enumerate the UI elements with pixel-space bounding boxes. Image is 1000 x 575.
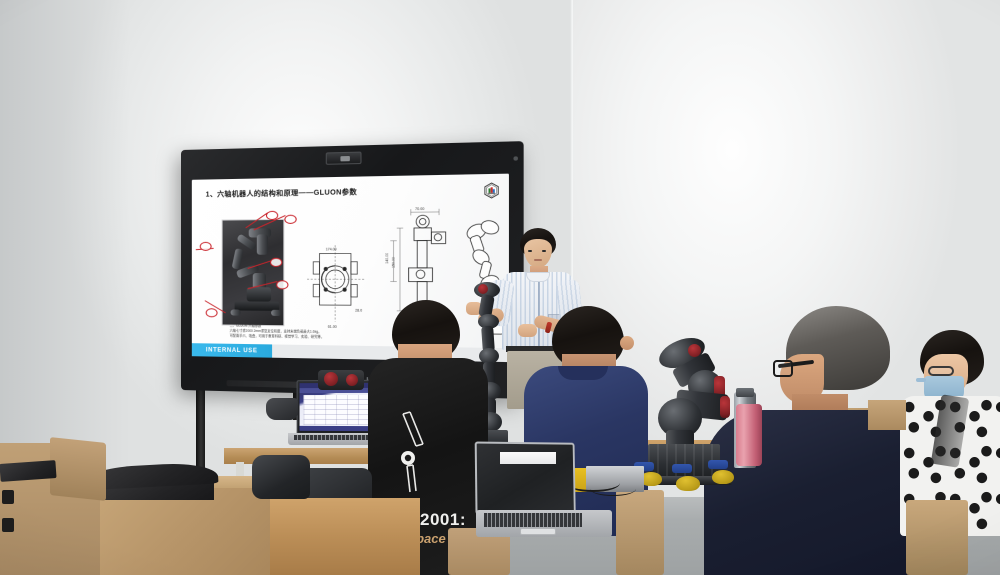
internal-use-badge: INTERNAL USE xyxy=(192,343,272,358)
svg-text:174.00: 174.00 xyxy=(326,247,337,251)
pneumatic-fitting xyxy=(708,460,728,469)
chair-back-far-left[interactable] xyxy=(50,437,106,501)
robot-joint-accent xyxy=(478,284,488,294)
svg-text:28.0: 28.0 xyxy=(355,308,362,312)
suction-foot xyxy=(676,476,700,491)
svg-text:150.00: 150.00 xyxy=(391,257,395,268)
slide-title: 1、六轴机器人的结构和原理——GLUON参数 xyxy=(206,185,498,200)
shirt-collar xyxy=(526,272,550,282)
eyeglasses-lens xyxy=(773,360,793,377)
callout-bubble xyxy=(200,242,212,251)
callout-bubble xyxy=(206,308,218,317)
chair-back-right-center[interactable] xyxy=(616,490,664,575)
laptop-front-keys[interactable] xyxy=(484,513,582,527)
laptop-trackpad[interactable] xyxy=(520,528,556,535)
presenter-eye-left xyxy=(528,250,532,252)
classroom-presentation-photo: CVTOUCH 1、六轴机器人的结构和原理——GLUON参数 xyxy=(0,0,1000,575)
slide-cad-flange-top-view: 174.0061.00 28.0 xyxy=(303,239,372,333)
polo-collar xyxy=(558,366,608,380)
box-handle-hole xyxy=(2,490,14,504)
callout-bubble xyxy=(270,258,282,267)
thermos-cap xyxy=(736,388,754,397)
presenter-mouth xyxy=(534,259,542,261)
cardboard-small-box xyxy=(868,400,906,430)
attendee-2-ear xyxy=(620,336,634,350)
tshirt-monolith-print-icon xyxy=(394,410,434,506)
callout-bubble xyxy=(266,211,278,220)
glove-hand-on-device xyxy=(266,398,298,420)
callout-bubble xyxy=(276,280,288,289)
company-hex-logo-icon xyxy=(484,182,499,198)
pneumatic-fitting xyxy=(672,464,692,473)
camera-accent-ring xyxy=(324,372,338,386)
box-handle-hole xyxy=(2,518,14,532)
papers-on-table[interactable] xyxy=(500,452,556,464)
callout-bubble xyxy=(284,215,296,224)
face-mask-ear-loop xyxy=(916,378,926,382)
attendee-4-eyeglasses xyxy=(928,366,954,376)
bag-on-table-left[interactable] xyxy=(252,455,310,499)
water-bottle-pink[interactable] xyxy=(736,404,762,466)
presenter-eye-right xyxy=(542,250,546,252)
slide-robot-photo xyxy=(222,219,285,326)
presenter-face xyxy=(524,239,552,268)
demo-robot-accent-ring-2 xyxy=(720,396,730,418)
svg-text:70.00: 70.00 xyxy=(415,207,424,211)
suction-foot xyxy=(712,470,734,484)
camera-accent-ring-2 xyxy=(346,374,358,386)
laptop-front-keyboard-deck[interactable] xyxy=(476,510,612,537)
tshirt-print-main: 2001: xyxy=(420,510,466,530)
chair-back-far-right[interactable] xyxy=(906,500,968,575)
svg-text:140.00: 140.00 xyxy=(385,253,389,264)
camera-sensor-bar-icon xyxy=(326,152,362,165)
power-led-icon xyxy=(513,156,518,160)
